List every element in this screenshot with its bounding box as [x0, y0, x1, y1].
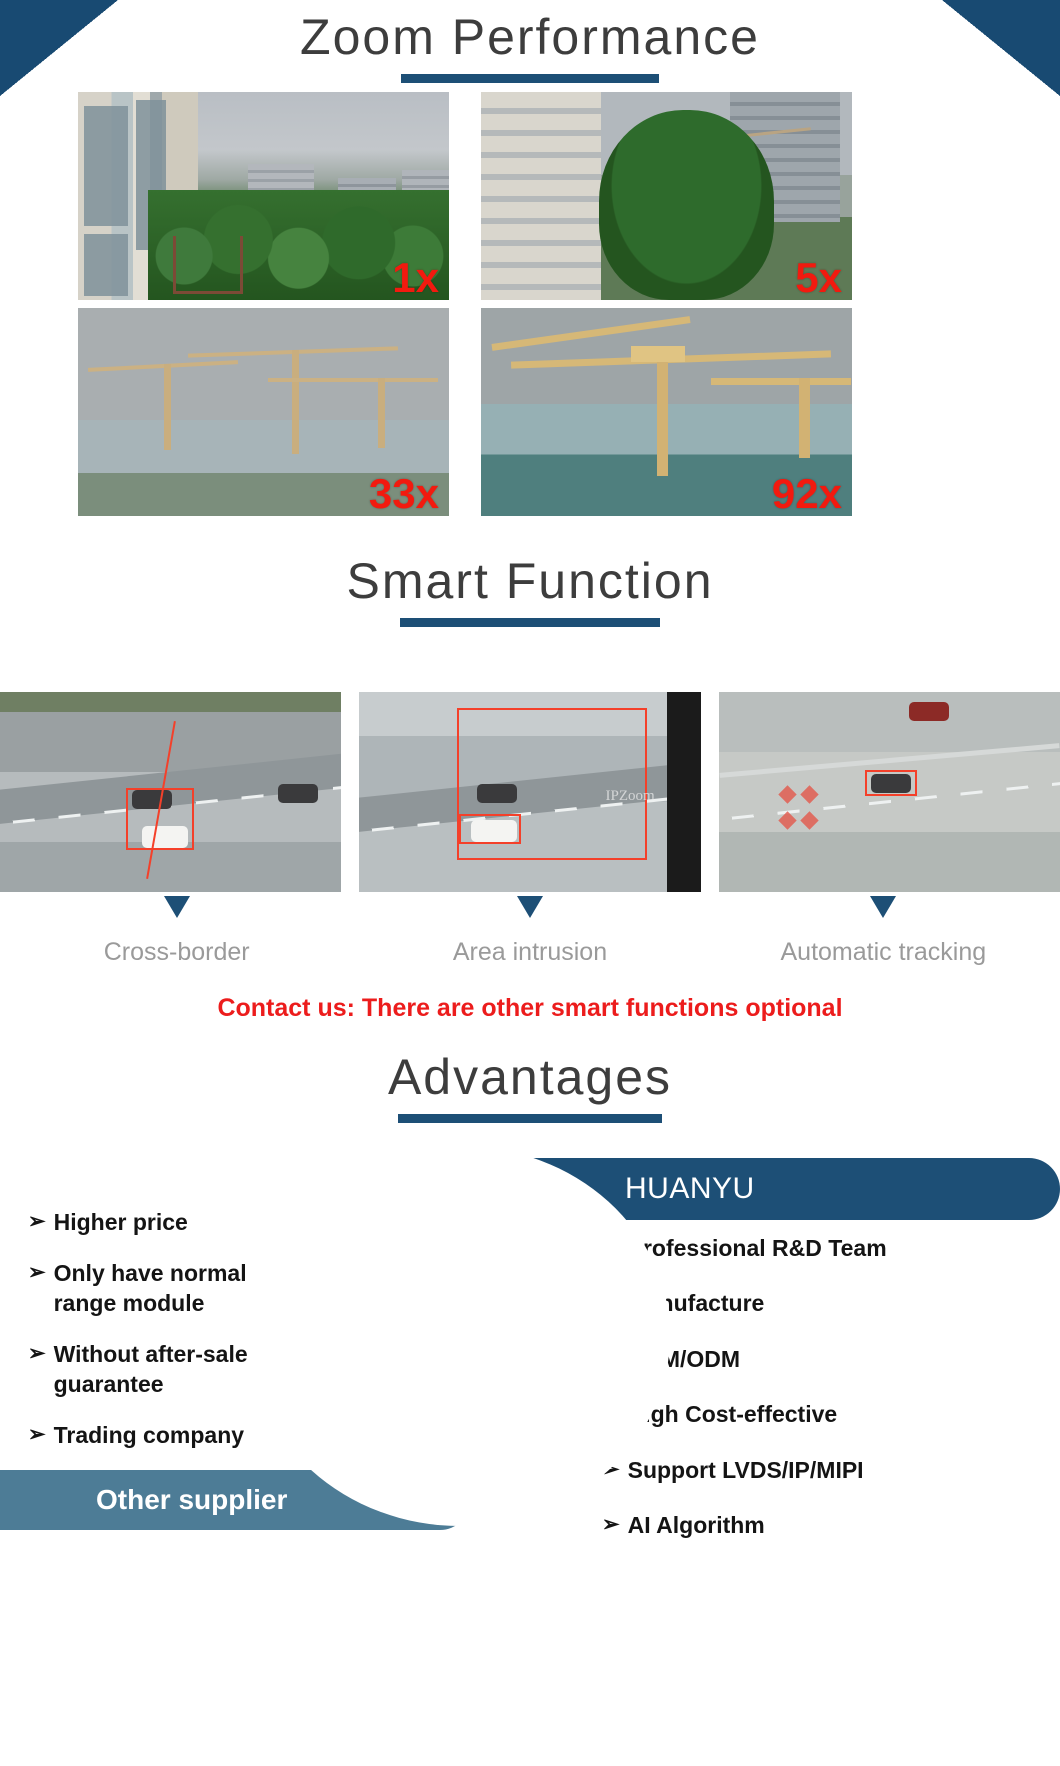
- smart-function-gallery: IPZoom: [0, 692, 1060, 892]
- smart-function-label-row: Cross-border Area intrusion Automatic tr…: [0, 938, 1060, 967]
- title-underline-smart: [400, 618, 660, 627]
- zoom-performance-header: Zoom Performance: [0, 0, 1060, 96]
- advantages-header: Advantages: [0, 1052, 1060, 1123]
- arrow-bullet-icon: ➢: [602, 1511, 620, 1540]
- list-item-label: AI Algorithm: [628, 1511, 765, 1540]
- title-underline-zoom: [401, 74, 659, 83]
- list-item: ➢ Support LVDS/IP/MIPI: [602, 1456, 1032, 1485]
- smart-photo-automatic-tracking: [719, 692, 1060, 892]
- huanyu-banner-label: HUANYU: [625, 1172, 755, 1206]
- list-item: ➢ High Cost-effective: [602, 1400, 1032, 1429]
- product-detail-page: Zoom Performance 1x 5x: [0, 0, 1060, 1766]
- balcony-railing: [173, 236, 243, 294]
- advantages-comparison-panel: HUANYU Other supplier ➢ Higher price ➢ O…: [0, 1150, 1060, 1766]
- corner-triangle-left-icon: [0, 0, 118, 96]
- corner-triangle-right-icon: [942, 0, 1060, 96]
- chevron-down-icon: [517, 896, 543, 918]
- list-item: ➢ Professional R&D Team: [602, 1234, 1032, 1263]
- huanyu-advantages-list: ➢ Professional R&D Team ➢ Manufacture ➢ …: [602, 1234, 1032, 1567]
- crane-boom: [88, 360, 238, 372]
- crane-mast: [378, 378, 385, 448]
- crane-boom: [268, 378, 438, 382]
- contact-note: Contact us: There are other smart functi…: [0, 994, 1060, 1023]
- detection-box: [865, 770, 917, 796]
- window-pane: [84, 106, 128, 226]
- crane-mast: [799, 378, 810, 458]
- zoom-label-5x: 5x: [795, 256, 842, 300]
- tree-canopy: [599, 110, 774, 300]
- zoom-photo-33x: 33x: [78, 308, 449, 516]
- zoom-sample-grid: 1x 5x 33x 92x: [78, 92, 982, 516]
- list-item: ➢ Higher price: [28, 1208, 296, 1237]
- curved-divider: [250, 1146, 670, 1526]
- crane-cab: [631, 346, 685, 362]
- road-sign-icon: [778, 785, 796, 803]
- crane-mast: [292, 350, 299, 454]
- apartment-facade: [481, 92, 601, 300]
- zoom-photo-1x: 1x: [78, 92, 449, 300]
- arrow-bullet-icon: ➢: [28, 1340, 46, 1369]
- crane-boom: [711, 378, 851, 385]
- smart-label-area-intrusion: Area intrusion: [353, 938, 706, 967]
- page-title-advantages: Advantages: [0, 1052, 1060, 1102]
- detection-region: [457, 708, 647, 860]
- arrow-bullet-icon: ➢: [28, 1421, 46, 1450]
- page-title-zoom-performance: Zoom Performance: [0, 0, 1060, 62]
- title-underline-advantages: [398, 1114, 662, 1123]
- road-sign-icon: [800, 811, 818, 829]
- smart-photo-cross-border: [0, 692, 341, 892]
- vehicle-red: [909, 702, 949, 721]
- zoom-label-33x: 33x: [369, 472, 439, 516]
- list-item-label: Professional R&D Team: [628, 1234, 887, 1263]
- smart-photo-area-intrusion: IPZoom: [359, 692, 700, 892]
- other-supplier-banner-label: Other supplier: [96, 1484, 287, 1516]
- road-sign-icon: [800, 785, 818, 803]
- list-item-label: High Cost-effective: [628, 1400, 838, 1429]
- zoom-label-1x: 1x: [392, 256, 439, 300]
- page-title-smart-function: Smart Function: [0, 556, 1060, 606]
- list-item-label: Trading company: [54, 1421, 244, 1450]
- smart-function-arrow-row: [0, 896, 1060, 936]
- crane-mast: [657, 356, 668, 476]
- smart-label-automatic-tracking: Automatic tracking: [707, 938, 1060, 967]
- window-frame: [667, 692, 701, 892]
- smart-function-header: Smart Function: [0, 556, 1060, 627]
- list-item: ➢ Trading company: [28, 1421, 296, 1450]
- chevron-down-icon: [164, 896, 190, 918]
- crane-mast: [164, 364, 171, 450]
- list-item-label: Higher price: [54, 1208, 188, 1237]
- window-pane: [84, 234, 128, 296]
- list-item: ➢ AI Algorithm: [602, 1511, 1032, 1540]
- arrow-bullet-icon: ➢: [28, 1259, 46, 1288]
- vehicle-dark: [278, 784, 318, 803]
- watermark-label: IPZoom: [605, 788, 654, 805]
- smart-label-cross-border: Cross-border: [0, 938, 353, 967]
- list-item-label: Support LVDS/IP/MIPI: [628, 1456, 864, 1485]
- arrow-bullet-icon: ➢: [28, 1208, 46, 1237]
- zoom-photo-5x: 5x: [481, 92, 852, 300]
- chevron-down-icon: [870, 896, 896, 918]
- zoom-label-92x: 92x: [772, 472, 842, 516]
- zoom-photo-92x: 92x: [481, 308, 852, 516]
